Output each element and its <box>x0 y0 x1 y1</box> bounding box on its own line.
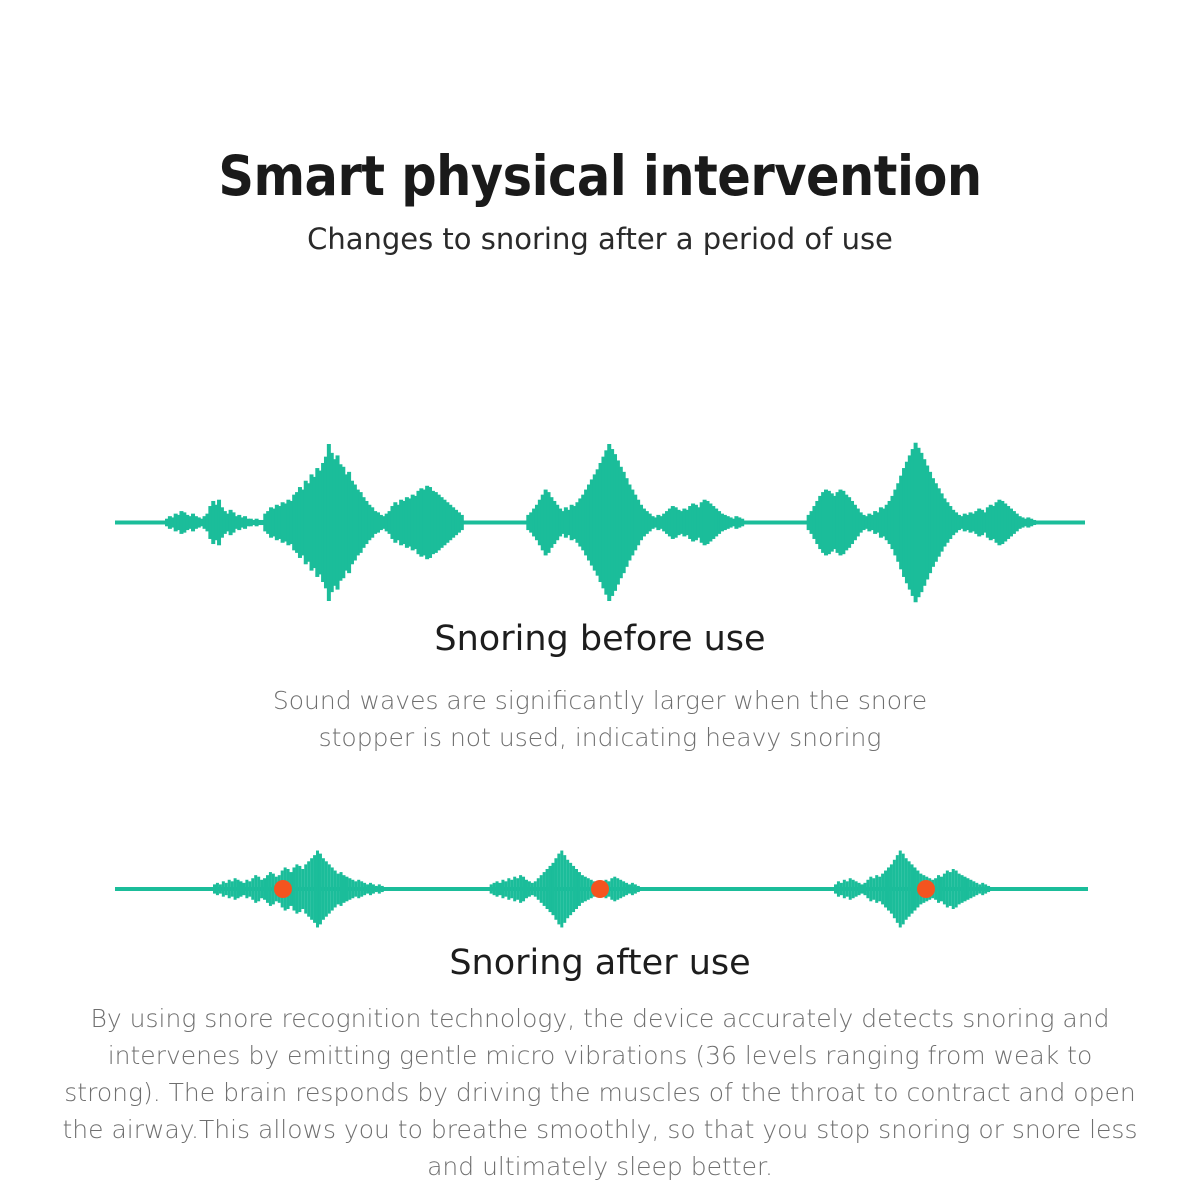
waveform-bar <box>631 883 634 895</box>
waveform-bar <box>584 877 587 902</box>
waveform-bar <box>460 515 464 530</box>
waveform-bar <box>307 861 310 916</box>
waveform-bar <box>301 869 304 909</box>
waveform-bar <box>334 871 337 908</box>
waveform-bar <box>328 864 331 913</box>
waveform-bar <box>537 878 540 900</box>
waveform-bar <box>984 884 987 893</box>
poster-page: Smart physical intervention Changes to s… <box>0 0 1200 1200</box>
waveform-bar <box>834 884 837 893</box>
waveform-bar <box>507 878 510 900</box>
waveform-bar <box>234 878 237 900</box>
waveform-bar <box>852 880 855 898</box>
waveform-bar <box>369 883 372 895</box>
waveform-bar <box>345 877 348 902</box>
waveform-bar <box>958 874 961 905</box>
waveform-bar <box>242 883 245 895</box>
waveform-bar <box>566 860 569 918</box>
waveform-bar <box>239 881 242 896</box>
waveform-bar <box>316 851 319 928</box>
waveform-bar <box>884 871 887 908</box>
waveform-bar <box>510 880 513 898</box>
waveform-bar <box>378 884 381 893</box>
waveform-bar <box>975 883 978 895</box>
waveform-bar <box>292 867 295 910</box>
waveform-bar <box>622 881 625 896</box>
waveform-bar <box>613 877 616 902</box>
waveform-bar <box>563 855 566 923</box>
waveform-bar <box>554 858 557 920</box>
waveform-bar <box>360 881 363 896</box>
waveform-bar <box>534 881 537 896</box>
page-subtitle: Changes to snoring after a period of use <box>0 222 1200 257</box>
waveform-bar <box>260 880 263 898</box>
waveform-bar <box>354 881 357 896</box>
waveform-bar <box>498 883 501 895</box>
waveform-bar <box>366 884 369 893</box>
waveform-bar <box>245 880 248 898</box>
waveform-bar <box>522 877 525 902</box>
waveform-bar <box>225 883 228 895</box>
section-heading-after: Snoring after use <box>0 942 1200 984</box>
snore-detection-marker-icon <box>917 880 935 898</box>
caption-after-use: Snoring after use By using snore recogni… <box>0 942 1200 1185</box>
waveform-bar <box>340 872 343 906</box>
waveform-bar <box>878 877 881 902</box>
waveform-bar <box>869 877 872 902</box>
waveform-bar <box>343 875 346 903</box>
waveform-bar <box>501 880 504 898</box>
waveform-bar <box>840 883 843 895</box>
waveform-bar <box>363 883 366 895</box>
waveform-bar <box>964 877 967 902</box>
waveform-bar <box>322 858 325 920</box>
waveform-bar <box>231 881 234 896</box>
waveform-bar <box>578 872 581 906</box>
waveform-bar <box>843 880 846 898</box>
waveform-bar <box>861 884 864 893</box>
waveform-bar <box>319 854 322 925</box>
waveform-bar <box>905 858 908 920</box>
waveform-bar <box>304 864 307 913</box>
section-body-after: By using snore recognition technology, t… <box>60 1000 1140 1185</box>
waveform-bar <box>531 883 534 895</box>
waveform-bar <box>972 881 975 896</box>
waveform-bar <box>493 883 496 895</box>
waveform-bar <box>943 874 946 905</box>
waveform-bar <box>872 878 875 900</box>
waveform-before-use <box>0 440 1200 605</box>
waveform-bar <box>254 875 257 903</box>
waveform-bar <box>251 878 254 900</box>
waveform-bar <box>890 864 893 913</box>
waveform-bar <box>513 877 516 902</box>
waveform-bar <box>955 871 958 908</box>
section-heading-before: Snoring before use <box>0 618 1200 660</box>
section-body-before: Sound waves are significantly larger whe… <box>250 682 950 756</box>
waveform-bar <box>337 874 340 905</box>
waveform-after-use-svg <box>0 845 1200 933</box>
waveform-bar <box>899 851 902 928</box>
waveform-bar <box>913 867 916 910</box>
waveform-bar <box>625 883 628 895</box>
waveform-bar <box>516 878 519 900</box>
waveform-bar <box>893 860 896 918</box>
waveform-bar <box>543 872 546 906</box>
waveform-bar <box>313 855 316 923</box>
waveform-bar <box>357 880 360 898</box>
waveform-bar <box>858 883 861 895</box>
waveform-bar <box>569 863 572 915</box>
waveform-bar <box>946 871 949 908</box>
waveform-bar <box>628 884 631 893</box>
waveform-bar <box>549 866 552 912</box>
waveform-bar <box>298 866 301 912</box>
waveform-bar <box>351 880 354 898</box>
snore-detection-marker-icon <box>274 880 292 898</box>
waveform-bar <box>551 863 554 915</box>
waveform-bar <box>375 886 378 892</box>
waveform-bar <box>331 867 334 910</box>
waveform-bar <box>616 878 619 900</box>
waveform-bar <box>981 883 984 895</box>
waveform-bar <box>504 881 507 896</box>
waveform-bar <box>528 881 531 896</box>
header: Smart physical intervention Changes to s… <box>0 148 1200 257</box>
waveform-bar <box>295 864 298 913</box>
caption-before-use: Snoring before use Sound waves are signi… <box>0 618 1200 756</box>
waveform-after-use <box>0 845 1200 933</box>
waveform-bar <box>325 861 328 916</box>
waveform-bar <box>372 884 375 893</box>
waveform-bar <box>237 880 240 898</box>
waveform-bar <box>257 877 260 902</box>
waveform-bar <box>310 858 313 920</box>
waveform-bar <box>581 875 584 903</box>
waveform-bar <box>961 875 964 903</box>
waveform-bar <box>348 878 351 900</box>
waveform-bar <box>619 880 622 898</box>
waveform-bar <box>219 884 222 893</box>
waveform-bar <box>525 880 528 898</box>
waveform-bar <box>952 869 955 909</box>
waveform-bar <box>978 884 981 893</box>
waveform-bar <box>572 866 575 912</box>
waveform-bar <box>966 878 969 900</box>
waveform-bar <box>911 864 914 913</box>
waveform-bar <box>855 881 858 896</box>
waveform-bar <box>560 851 563 928</box>
waveform-bar <box>263 878 266 900</box>
waveform-bar <box>896 855 899 923</box>
waveform-bar <box>248 881 251 896</box>
waveform-bar <box>575 869 578 909</box>
waveform-bar <box>837 881 840 896</box>
waveform-bar <box>902 854 905 925</box>
snore-detection-marker-icon <box>591 880 609 898</box>
waveform-bar <box>587 878 590 900</box>
waveform-bar <box>213 884 216 893</box>
waveform-bar <box>266 875 269 903</box>
waveform-bar <box>557 854 560 925</box>
waveform-bar <box>490 884 493 893</box>
waveform-bar <box>937 875 940 903</box>
waveform-bar <box>875 875 878 903</box>
waveform-bar <box>863 883 866 895</box>
waveform-bar <box>610 878 613 900</box>
waveform-before-use-svg <box>0 440 1200 605</box>
waveform-bar <box>222 881 225 896</box>
waveform-bar <box>949 872 952 906</box>
waveform-bar <box>740 519 744 527</box>
waveform-bar <box>1032 520 1036 525</box>
waveform-bar <box>881 874 884 905</box>
waveform-bar <box>849 878 852 900</box>
waveform-bar <box>519 875 522 903</box>
waveform-bar <box>496 881 499 896</box>
waveform-bar <box>228 880 231 898</box>
waveform-bar <box>381 886 384 892</box>
waveform-bar <box>987 886 990 892</box>
waveform-bar <box>866 880 869 898</box>
waveform-bar <box>216 883 219 895</box>
waveform-bar <box>540 875 543 903</box>
waveform-bar <box>546 869 549 909</box>
waveform-bar <box>940 877 943 902</box>
waveform-bar <box>846 881 849 896</box>
page-title: Smart physical intervention <box>0 148 1200 206</box>
waveform-bar <box>634 884 637 893</box>
waveform-bar <box>908 861 911 916</box>
waveform-bar <box>887 867 890 910</box>
waveform-bar <box>269 872 272 906</box>
waveform-bar <box>969 880 972 898</box>
waveform-bar <box>637 886 640 892</box>
